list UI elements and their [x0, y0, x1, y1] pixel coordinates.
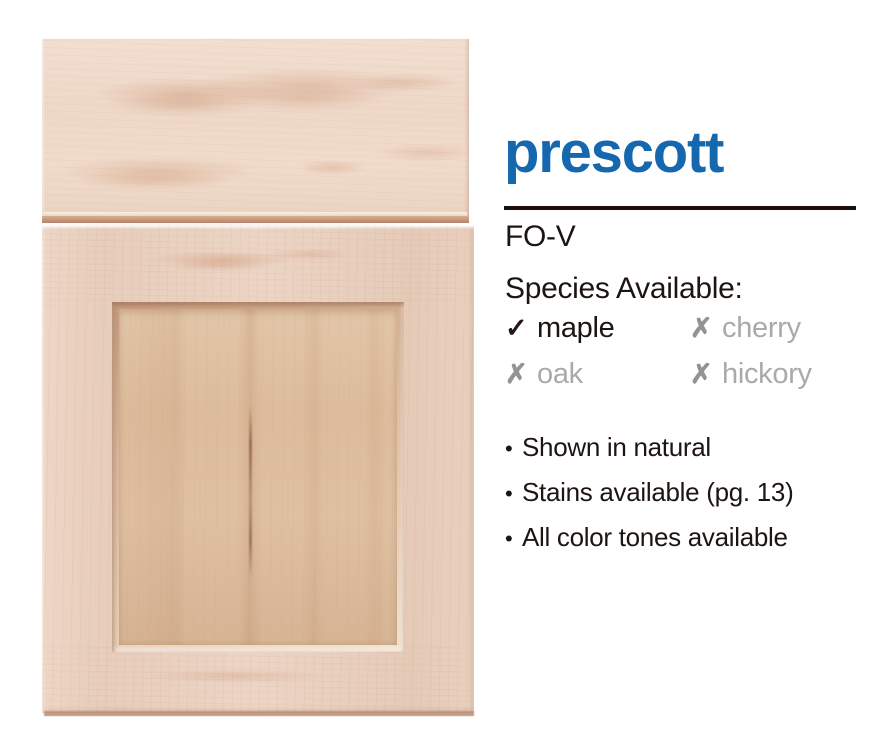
- product-notes-list: • Shown in natural • Stains available (p…: [505, 432, 861, 567]
- species-availability-grid: ✓ maple ✗ cherry ✗ oak ✗ hickory: [505, 312, 857, 404]
- species-item-cherry: ✗ cherry: [690, 312, 857, 345]
- bullet-icon: •: [505, 483, 522, 505]
- title-divider-rule: [504, 206, 856, 210]
- door-bottom-rail: [42, 646, 474, 713]
- species-label-oak: oak: [537, 358, 583, 391]
- drawer-front-slab: [42, 38, 469, 223]
- door-center-panel: [119, 309, 397, 645]
- door-top-rail: [42, 228, 474, 306]
- species-item-oak: ✗ oak: [505, 358, 690, 391]
- list-item: • Stains available (pg. 13): [505, 477, 861, 522]
- bullet-icon: •: [505, 438, 522, 460]
- species-item-hickory: ✗ hickory: [690, 358, 857, 391]
- species-label-maple: maple: [537, 312, 615, 345]
- cross-icon: ✗: [690, 313, 722, 344]
- species-available-heading: Species Available:: [505, 272, 743, 306]
- species-label-hickory: hickory: [722, 358, 812, 391]
- drawer-front-bottom-edge: [42, 216, 469, 223]
- cross-icon: ✗: [505, 359, 537, 390]
- cabinet-door-photo: [28, 18, 478, 718]
- note-text: Shown in natural: [522, 432, 711, 463]
- list-item: • Shown in natural: [505, 432, 861, 477]
- product-title: prescott: [504, 124, 723, 182]
- product-code: FO-V: [505, 220, 575, 254]
- door-bottom-shadow: [44, 711, 474, 716]
- bullet-icon: •: [505, 528, 522, 550]
- species-item-maple: ✓ maple: [505, 312, 690, 345]
- note-text: Stains available (pg. 13): [522, 477, 793, 508]
- product-info-column: prescott FO-V Species Available: ✓ maple…: [504, 0, 864, 751]
- species-row: ✗ oak ✗ hickory: [505, 358, 857, 404]
- cross-icon: ✗: [690, 359, 722, 390]
- species-row: ✓ maple ✗ cherry: [505, 312, 857, 358]
- check-icon: ✓: [505, 313, 537, 344]
- wood-grain-streak: [249, 406, 252, 578]
- note-text: All color tones available: [522, 522, 788, 553]
- list-item: • All color tones available: [505, 522, 861, 567]
- species-label-cherry: cherry: [722, 312, 801, 345]
